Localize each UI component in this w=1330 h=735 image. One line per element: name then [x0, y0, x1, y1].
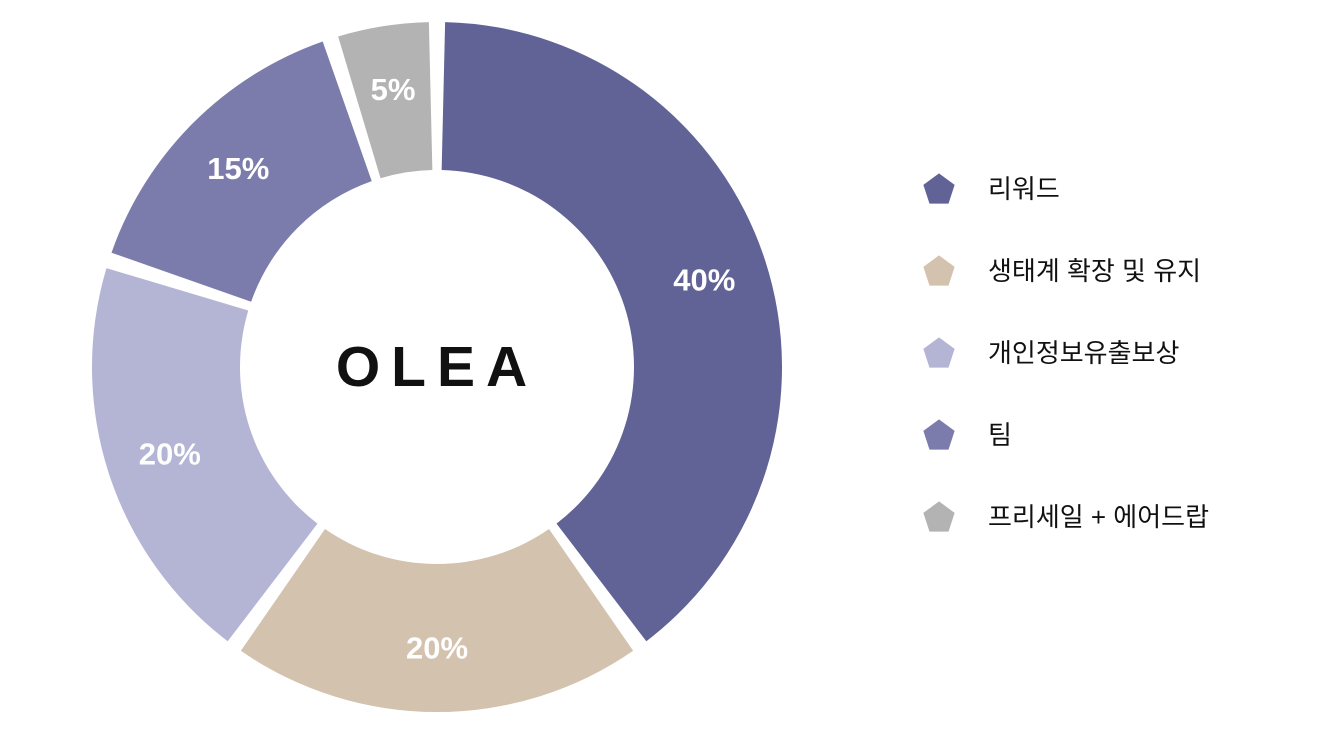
legend-item-ecosystem[interactable]: 생태계 확장 및 유지	[922, 230, 1322, 312]
legend-item-team[interactable]: 팀	[922, 394, 1322, 476]
donut-slice-value-label: 20%	[139, 436, 201, 471]
pentagon-marker-icon	[922, 418, 956, 452]
donut-slice[interactable]	[442, 22, 782, 641]
donut-chart: 40%20%20%15%5% OLEA	[0, 0, 880, 735]
legend-item-label: 프리세일 + 에어드랍	[988, 504, 1209, 530]
donut-slice-value-label: 15%	[207, 151, 269, 186]
donut-chart-page: 40%20%20%15%5% OLEA 리워드 생태계 확장 및 유지 개인정보…	[0, 0, 1330, 735]
legend-item-label: 리워드	[988, 176, 1060, 202]
donut-slice-value-label: 5%	[371, 72, 416, 107]
donut-slice[interactable]	[92, 268, 317, 641]
legend-item-presale-airdrop[interactable]: 프리세일 + 에어드랍	[922, 476, 1322, 558]
legend-item-privacy-compensation[interactable]: 개인정보유출보상	[922, 312, 1322, 394]
legend-item-label: 개인정보유출보상	[988, 340, 1179, 366]
donut-slice[interactable]	[241, 529, 633, 712]
pentagon-marker-icon	[922, 500, 956, 534]
donut-slice-value-label: 20%	[406, 631, 468, 666]
pentagon-marker-icon	[922, 336, 956, 370]
pentagon-marker-icon	[922, 172, 956, 206]
donut-chart-svg: 40%20%20%15%5% OLEA	[0, 0, 880, 735]
donut-slice-value-label: 40%	[673, 263, 735, 298]
legend-item-label: 생태계 확장 및 유지	[988, 258, 1201, 284]
legend-item-reward[interactable]: 리워드	[922, 148, 1322, 230]
legend-item-label: 팀	[988, 422, 1012, 448]
donut-center-label: OLEA	[336, 335, 538, 399]
pentagon-marker-icon	[922, 254, 956, 288]
chart-legend: 리워드 생태계 확장 및 유지 개인정보유출보상 팀 프리세일 + 에어드랍	[922, 148, 1322, 558]
